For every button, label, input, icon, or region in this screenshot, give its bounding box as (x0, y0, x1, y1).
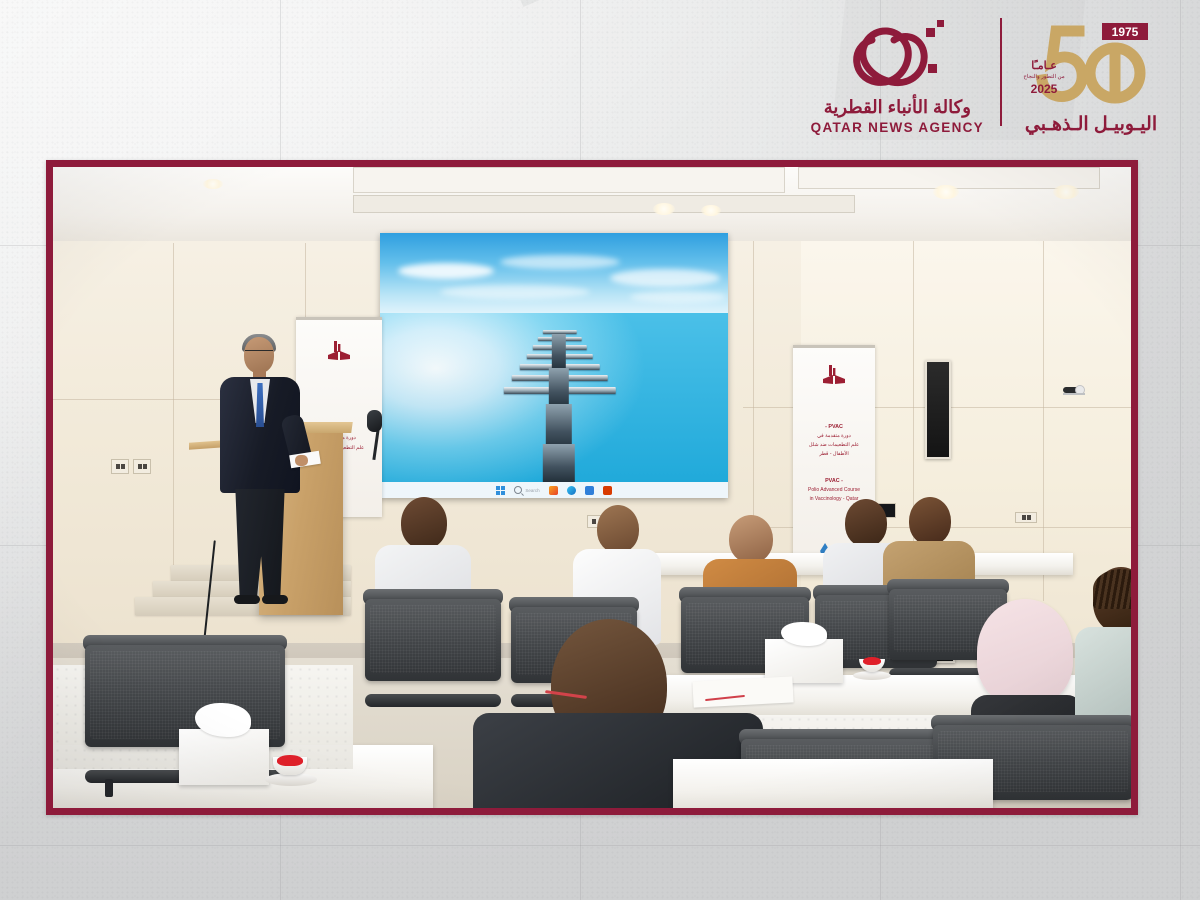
windows-taskbar[interactable]: Search (380, 482, 728, 498)
wallpaper-pier (499, 328, 619, 478)
banner-arabic-line-1: دورة متقدمة في (793, 433, 875, 441)
qna-logo: وكالة الأنباء القطرية QATAR NEWS AGENCY (811, 16, 1000, 135)
cloud (440, 285, 590, 299)
audience-head (845, 499, 887, 547)
decorative-flower (277, 755, 303, 766)
hijab-headscarf (977, 599, 1073, 705)
cloud (610, 269, 720, 287)
ceiling-light (1053, 185, 1079, 199)
photo-frame: Search دورة متقدمة في علم ا (46, 160, 1138, 815)
search-icon (514, 486, 522, 494)
wall-seam (173, 243, 174, 603)
jubilee-arabic-sub-text: من التطور والنجاح (1023, 73, 1064, 80)
audience-head (597, 505, 639, 553)
golden-jubilee-logo: 1975 عـامـًا من التطور والنجاح 2025 اليـ… (1016, 17, 1166, 134)
jubilee-year-end-text: 2025 (1031, 82, 1058, 96)
audience-head (729, 515, 773, 563)
speaker-shoe (262, 595, 288, 604)
camera-mount (1063, 393, 1085, 395)
ceiling-light (203, 179, 223, 189)
table-front-right (673, 759, 993, 808)
jubilee-year-start-text: 1975 (1112, 25, 1139, 39)
saucer (853, 671, 891, 680)
store-icon[interactable] (585, 486, 594, 495)
banner-title-english: PVAC - (793, 477, 875, 485)
wall-socket (1015, 512, 1037, 523)
speaker-shoe (234, 595, 260, 604)
chair-post (105, 779, 113, 797)
search-placeholder: Search (525, 488, 539, 493)
cloud (630, 291, 726, 303)
ceiling-light (701, 205, 721, 216)
ceiling-panel (353, 167, 785, 193)
audience-top (1075, 627, 1131, 727)
cloud (500, 255, 620, 269)
branding-header: وكالة الأنباء القطرية QATAR NEWS AGENCY … (811, 16, 1166, 135)
ceiling-light (653, 203, 675, 215)
tissue-box (179, 729, 269, 785)
qna-name-arabic: وكالة الأنباء القطرية (824, 98, 971, 116)
wall-camera (1063, 385, 1081, 395)
office-icon[interactable] (603, 486, 612, 495)
braided-hair (1093, 569, 1131, 609)
banner-rail (296, 317, 382, 320)
banner-title-arabic: PVAC - (793, 423, 875, 431)
edge-icon[interactable] (567, 486, 576, 495)
speaker-person (198, 337, 338, 612)
projection-screen: Search (380, 233, 728, 498)
qna-infinity-icon (842, 16, 952, 100)
cloud (398, 263, 494, 279)
banner-arabic-line-3: الأطفال - قطر (793, 451, 875, 459)
wall-speaker (925, 360, 951, 459)
audience-head (401, 497, 447, 549)
jubilee-arabic-small-text: عـامـًا (1031, 59, 1057, 72)
banner-english-line-1: Polio Advanced Course (793, 487, 875, 495)
apps-icon[interactable] (549, 486, 558, 495)
banner-rail (793, 345, 875, 348)
speaker-trousers (232, 489, 288, 601)
jubilee-50-icon: 1975 عـامـًا من التطور والنجاح 2025 (1016, 17, 1166, 113)
chair-back (365, 599, 501, 681)
wall-seam (1043, 241, 1044, 601)
qna-name-english: QATAR NEWS AGENCY (811, 121, 984, 135)
jubilee-title-arabic: اليـوبيـل الـذهـبي (1025, 115, 1157, 134)
taskbar-search-box[interactable]: Search (514, 486, 539, 494)
institution-book-icon (821, 363, 847, 385)
speaker-hand (295, 455, 308, 466)
banner-arabic-line-2: علم التطعيمات ضد شلل (793, 442, 875, 450)
speaker-glasses (245, 350, 273, 357)
microphone-icon (367, 410, 382, 432)
start-icon[interactable] (496, 486, 505, 495)
decorative-flower (863, 657, 881, 665)
audience-head (909, 497, 951, 545)
news-photo: Search دورة متقدمة في علم ا (53, 167, 1131, 808)
wall-socket (111, 459, 129, 474)
ceiling-panel (353, 195, 855, 213)
wall-socket (133, 459, 151, 474)
chair-arm (365, 694, 501, 707)
logo-divider (1000, 18, 1002, 126)
chair (365, 589, 501, 709)
ceiling-light (933, 185, 959, 199)
poster-canvas: وكالة الأنباء القطرية QATAR NEWS AGENCY … (0, 0, 1200, 900)
